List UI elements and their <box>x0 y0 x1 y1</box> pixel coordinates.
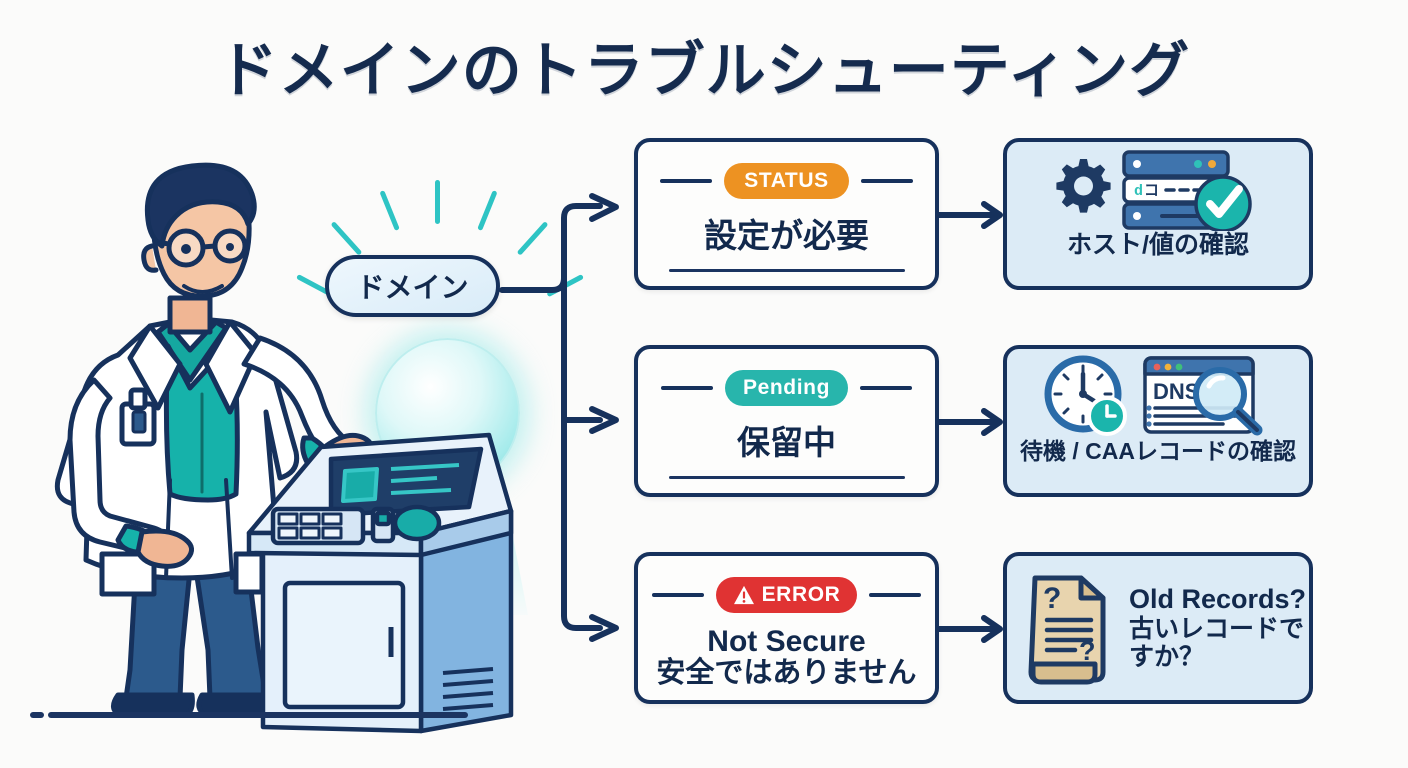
domain-pill-label: ドメイン <box>356 266 468 306</box>
badge-row: Pending <box>638 365 935 411</box>
card-underline <box>669 269 905 272</box>
rule-left <box>661 386 713 390</box>
panel-label: 待機 / CAAレコードの確認 <box>1020 439 1296 463</box>
rule-right <box>861 179 913 183</box>
panel-label: ホスト/値の確認 <box>1067 232 1249 258</box>
warning-triangle-icon <box>733 585 755 605</box>
domain-hologram-pill[interactable]: ドメイン <box>325 255 500 317</box>
panel-icons: DNS <box>1033 353 1283 439</box>
infographic-canvas: ドメインのトラブルシューティング <box>0 0 1408 768</box>
gear-icon <box>1056 159 1110 213</box>
check-circle-icon <box>1196 177 1250 231</box>
wait-caa-icon-group: DNS <box>1033 354 1283 438</box>
status-card-setup-required[interactable]: STATUS 設定が必要 <box>634 138 939 290</box>
panel-label-jp-line1: 古いレコードで <box>1129 615 1306 644</box>
badge-row: ERROR <box>638 572 935 618</box>
ground-dash <box>30 712 44 718</box>
rule-right <box>860 386 912 390</box>
status-card-error[interactable]: ERROR Not Secure 安全ではありません <box>634 552 939 704</box>
card-content: Not Secure 安全ではありません <box>638 618 935 700</box>
panel-icons: d コ <box>1038 146 1278 232</box>
error-badge: ERROR <box>716 577 858 613</box>
svg-text:?: ? <box>1079 636 1096 666</box>
result-panel-caa-record[interactable]: DNS <box>1003 345 1313 497</box>
svg-text:DNS: DNS <box>1153 379 1199 404</box>
badge-row: STATUS <box>638 158 935 204</box>
pending-badge: Pending <box>725 370 848 406</box>
status-card-pending[interactable]: Pending 保留中 <box>634 345 939 497</box>
card-jp-text: 設定が必要 <box>704 219 869 254</box>
ground-line <box>48 712 468 718</box>
svg-text:d: d <box>1134 183 1143 200</box>
panel-label-en: Old Records? <box>1129 584 1306 614</box>
scientist-illustration <box>30 150 550 735</box>
rule-left <box>652 593 704 597</box>
card-content: 保留中 <box>638 411 935 476</box>
terminal-console <box>245 415 535 745</box>
glow-ray <box>546 274 584 297</box>
panel-text-block: Old Records? 古いレコードで すか？ <box>1129 584 1306 671</box>
host-value-icon-group: d コ <box>1038 147 1278 231</box>
svg-text:コ: コ <box>1144 183 1159 200</box>
panel-label-jp-line2: すか？ <box>1129 643 1306 672</box>
status-badge-label: STATUS <box>744 169 828 193</box>
page-title: ドメインのトラブルシューティング <box>0 22 1408 109</box>
rule-left <box>660 179 712 183</box>
card-underline <box>669 476 905 479</box>
card-en-text: Not Secure <box>707 625 865 658</box>
card-content: 設定が必要 <box>638 204 935 269</box>
question-document-icon: ? ? <box>1021 568 1117 688</box>
clock-icon <box>1048 359 1125 434</box>
rule-right <box>869 593 921 597</box>
status-badge: STATUS <box>724 163 848 199</box>
error-badge-label: ERROR <box>762 583 841 607</box>
card-jp-text: 保留中 <box>737 426 836 461</box>
result-panel-old-records[interactable]: ? ? Old Records? 古いレコードで すか？ <box>1003 552 1313 704</box>
card-jp-text: 安全ではありません <box>656 658 916 689</box>
result-panel-host-value[interactable]: d コ ホスト/値 <box>1003 138 1313 290</box>
svg-text:?: ? <box>1043 582 1061 615</box>
pending-badge-label: Pending <box>743 376 830 400</box>
